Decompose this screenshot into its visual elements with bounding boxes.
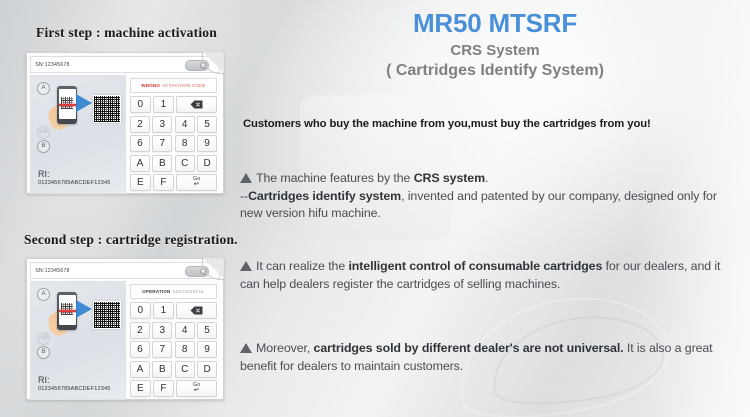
keypad-row: E F Go ↵ xyxy=(130,380,217,397)
key-f[interactable]: F xyxy=(153,380,174,397)
para1-line2-bold: Cartridges identify system xyxy=(248,189,401,203)
key-d[interactable]: D xyxy=(197,155,217,172)
device-left-panel: A AB B RI: 0123456789ABCDE xyxy=(30,75,126,194)
phone-qr-scan-illustration xyxy=(49,290,125,344)
status-badge: OPERATION SUCCESSFUL xyxy=(130,284,217,299)
key-0[interactable]: 0 xyxy=(130,302,151,319)
key-7[interactable]: 7 xyxy=(152,341,172,358)
ri-block: RI: 0123456789ABCDEF12345 xyxy=(38,169,111,187)
status-rest-text: SUCCESSFUL xyxy=(172,289,204,294)
para1-line2-pre: -- xyxy=(240,189,248,203)
device-right-panel: WRONG ACTIVATION CODE 0 1 2 3 4 xyxy=(126,75,220,194)
key-0[interactable]: 0 xyxy=(130,96,151,113)
triangle-bullet-icon xyxy=(240,261,252,271)
phone-qr-scan-illustration xyxy=(49,84,125,138)
para1-line1-post: . xyxy=(485,171,488,185)
ri-value: 0123456789ABCDEF12345 xyxy=(38,385,111,393)
device-screen-step-two: SN:12345678 A AB B xyxy=(26,258,224,400)
device-body: A AB B RI: 0123456789ABCDE xyxy=(30,75,220,194)
key-a[interactable]: A xyxy=(130,155,150,172)
marker-b-badge: B xyxy=(37,346,50,359)
keypad-row: 6 7 8 9 xyxy=(130,341,217,358)
key-9[interactable]: 9 xyxy=(197,341,217,358)
keypad: 0 1 2 3 4 5 6 7 8 xyxy=(130,96,217,191)
page-title: MR50 MTSRF xyxy=(260,8,730,39)
serial-number-label: SN:12345678 xyxy=(31,61,70,67)
keypad-row: 0 1 xyxy=(130,96,217,113)
enter-arrow-icon: ↵ xyxy=(194,388,200,393)
key-8[interactable]: 8 xyxy=(175,341,195,358)
key-5[interactable]: 5 xyxy=(197,322,217,339)
qr-code-icon xyxy=(61,303,73,315)
key-5[interactable]: 5 xyxy=(197,116,217,133)
device-body: A AB B RI: 0123456789ABCDE xyxy=(30,281,220,400)
para3-bold: cartridges sold by different dealer's ar… xyxy=(314,341,624,355)
key-3[interactable]: 3 xyxy=(152,116,172,133)
key-d[interactable]: D xyxy=(197,361,217,378)
para2-bold: intelligent control of consumable cartri… xyxy=(348,259,602,273)
key-6[interactable]: 6 xyxy=(130,341,150,358)
para2-pre: It can realize the xyxy=(256,259,348,273)
keypad-row: 0 1 xyxy=(130,302,217,319)
ri-value: 0123456789ABCDEF12345 xyxy=(38,179,111,187)
key-c[interactable]: C xyxy=(175,361,195,378)
smartphone-icon xyxy=(57,86,77,124)
device-screen-step-one: SN:12345678 A AB B xyxy=(26,52,224,194)
backspace-icon[interactable] xyxy=(176,302,217,319)
key-3[interactable]: 3 xyxy=(152,322,172,339)
key-a[interactable]: A xyxy=(130,361,150,378)
key-2[interactable]: 2 xyxy=(130,116,150,133)
status-strong-text: WRONG xyxy=(141,83,160,88)
keypad-row: A B C D xyxy=(130,155,217,172)
para1-line1-bold: CRS system xyxy=(414,171,485,185)
para3-pre: Moreover, xyxy=(256,341,314,355)
step-two-heading: Second step : cartridge registration. xyxy=(24,232,238,248)
toggle-switch-icon[interactable] xyxy=(185,60,209,71)
tagline-text: Customers who buy the machine from you,m… xyxy=(243,118,743,130)
key-4[interactable]: 4 xyxy=(175,322,195,339)
key-e[interactable]: E xyxy=(130,174,151,191)
key-8[interactable]: 8 xyxy=(175,135,195,152)
toggle-switch-icon[interactable] xyxy=(185,266,209,277)
key-9[interactable]: 9 xyxy=(197,135,217,152)
paragraph-three: Moreover, cartridges sold by different d… xyxy=(240,340,740,375)
subtitle-primary: CRS System xyxy=(260,42,730,59)
key-b[interactable]: B xyxy=(152,155,172,172)
slide-canvas: First step : machine activation SN:12345… xyxy=(0,0,750,417)
backspace-icon[interactable] xyxy=(176,96,217,113)
key-2[interactable]: 2 xyxy=(130,322,150,339)
qr-code-icon xyxy=(61,97,73,109)
keypad-row: 2 3 4 5 xyxy=(130,116,217,133)
paragraph-one: The machine features by the CRS system. … xyxy=(240,170,740,223)
serial-number-bar: SN:12345678 xyxy=(30,56,220,73)
key-f[interactable]: F xyxy=(153,174,174,191)
step-one-heading: First step : machine activation xyxy=(36,25,217,41)
scan-beam-icon xyxy=(76,300,92,318)
enter-arrow-icon: ↵ xyxy=(194,182,200,187)
ri-label: RI: xyxy=(38,169,111,179)
serial-number-label: SN:12345678 xyxy=(31,267,70,273)
scan-beam-icon xyxy=(76,94,92,112)
marker-b-badge: B xyxy=(37,140,50,153)
scan-line-icon xyxy=(59,104,76,106)
key-b[interactable]: B xyxy=(152,361,172,378)
status-badge: WRONG ACTIVATION CODE xyxy=(130,78,217,93)
paragraph-two: It can realize the intelligent control o… xyxy=(240,258,740,293)
status-strong-text: OPERATION xyxy=(142,289,170,294)
key-1[interactable]: 1 xyxy=(153,96,174,113)
go-button[interactable]: Go ↵ xyxy=(176,380,217,397)
smartphone-icon xyxy=(57,292,77,330)
phone-screen xyxy=(59,89,76,119)
qr-code-target-icon xyxy=(93,301,121,329)
key-7[interactable]: 7 xyxy=(152,135,172,152)
phone-screen xyxy=(59,295,76,325)
keypad-row: A B C D xyxy=(130,361,217,378)
subtitle-secondary: ( Cartridges Identify System) xyxy=(260,62,730,80)
serial-number-bar: SN:12345678 xyxy=(30,262,220,279)
keypad-row: 2 3 4 5 xyxy=(130,322,217,339)
key-4[interactable]: 4 xyxy=(175,116,195,133)
ri-block: RI: 0123456789ABCDEF12345 xyxy=(38,375,111,393)
keypad-row: 6 7 8 9 xyxy=(130,135,217,152)
go-button[interactable]: Go ↵ xyxy=(176,174,217,191)
key-1[interactable]: 1 xyxy=(153,302,174,319)
ri-label: RI: xyxy=(38,375,111,385)
keypad: 0 1 2 3 4 5 6 7 8 xyxy=(130,302,217,397)
device-right-panel: OPERATION SUCCESSFUL 0 1 2 3 4 xyxy=(126,281,220,400)
qr-code-target-icon xyxy=(93,95,121,123)
key-e[interactable]: E xyxy=(130,380,151,397)
key-6[interactable]: 6 xyxy=(130,135,150,152)
scan-line-icon xyxy=(59,310,76,312)
status-rest-text: ACTIVATION CODE xyxy=(162,83,206,88)
para1-line1-pre: The machine features by the xyxy=(256,171,414,185)
keypad-row: E F Go ↵ xyxy=(130,174,217,191)
device-left-panel: A AB B RI: 0123456789ABCDE xyxy=(30,281,126,400)
triangle-bullet-icon xyxy=(240,343,252,353)
key-c[interactable]: C xyxy=(175,155,195,172)
triangle-bullet-icon xyxy=(240,173,252,183)
